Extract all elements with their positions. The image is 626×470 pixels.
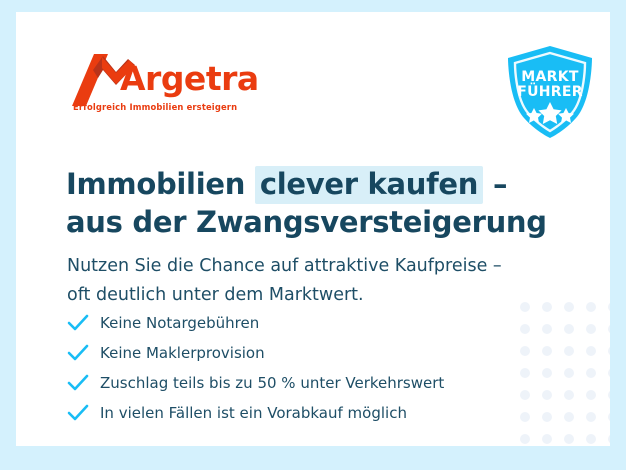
list-item-label: Zuschlag teils bis zu 50 % unter Verkehr… (93, 374, 444, 392)
headline-post: – (483, 167, 507, 201)
logo-tagline: Erfolgreich Immobilien ersteigern (73, 102, 237, 112)
check-icon (67, 373, 93, 393)
page-title: Immobilien clever kaufen – aus der Zwang… (66, 165, 536, 241)
check-icon (67, 403, 93, 423)
check-icon (67, 343, 93, 363)
list-item: Zuschlag teils bis zu 50 % unter Verkehr… (67, 368, 527, 398)
subtitle-line-1: Nutzen Sie die Chance auf attraktive Kau… (67, 252, 547, 281)
list-item-label: In vielen Fällen ist ein Vorabkauf mögli… (93, 404, 407, 422)
benefit-list: Keine Notargebühren Keine Maklerprovisio… (67, 308, 527, 428)
promo-card: Argetra Erfolgreich Immobilien ersteiger… (16, 12, 610, 446)
list-item-label: Keine Maklerprovision (93, 344, 265, 362)
dot-grid-decoration (520, 302, 610, 446)
list-item-label: Keine Notargebühren (93, 314, 259, 332)
page-frame: Argetra Erfolgreich Immobilien ersteiger… (0, 0, 626, 470)
subtitle-line-2: oft deutlich unter dem Marktwert. (67, 281, 547, 310)
badge-line-2: FÜHRER (504, 85, 596, 100)
check-icon (67, 313, 93, 333)
market-leader-badge: MARKT FÜHRER (504, 44, 596, 140)
list-item: Keine Notargebühren (67, 308, 527, 338)
headline-pre: Immobilien (66, 167, 255, 201)
list-item: In vielen Fällen ist ein Vorabkauf mögli… (67, 398, 527, 428)
headline-line-2: aus der Zwangsversteigerung (66, 203, 536, 241)
list-item: Keine Maklerprovision (67, 338, 527, 368)
headline-line-1: Immobilien clever kaufen – (66, 165, 536, 203)
badge-line-1: MARKT (504, 70, 596, 85)
headline-highlight: clever kaufen (255, 166, 483, 204)
logo-wordmark: Argetra (120, 62, 259, 95)
badge-label: MARKT FÜHRER (504, 70, 596, 100)
argetra-logo[interactable]: Argetra Erfolgreich Immobilien ersteiger… (72, 54, 262, 116)
subtitle: Nutzen Sie die Chance auf attraktive Kau… (67, 252, 547, 310)
